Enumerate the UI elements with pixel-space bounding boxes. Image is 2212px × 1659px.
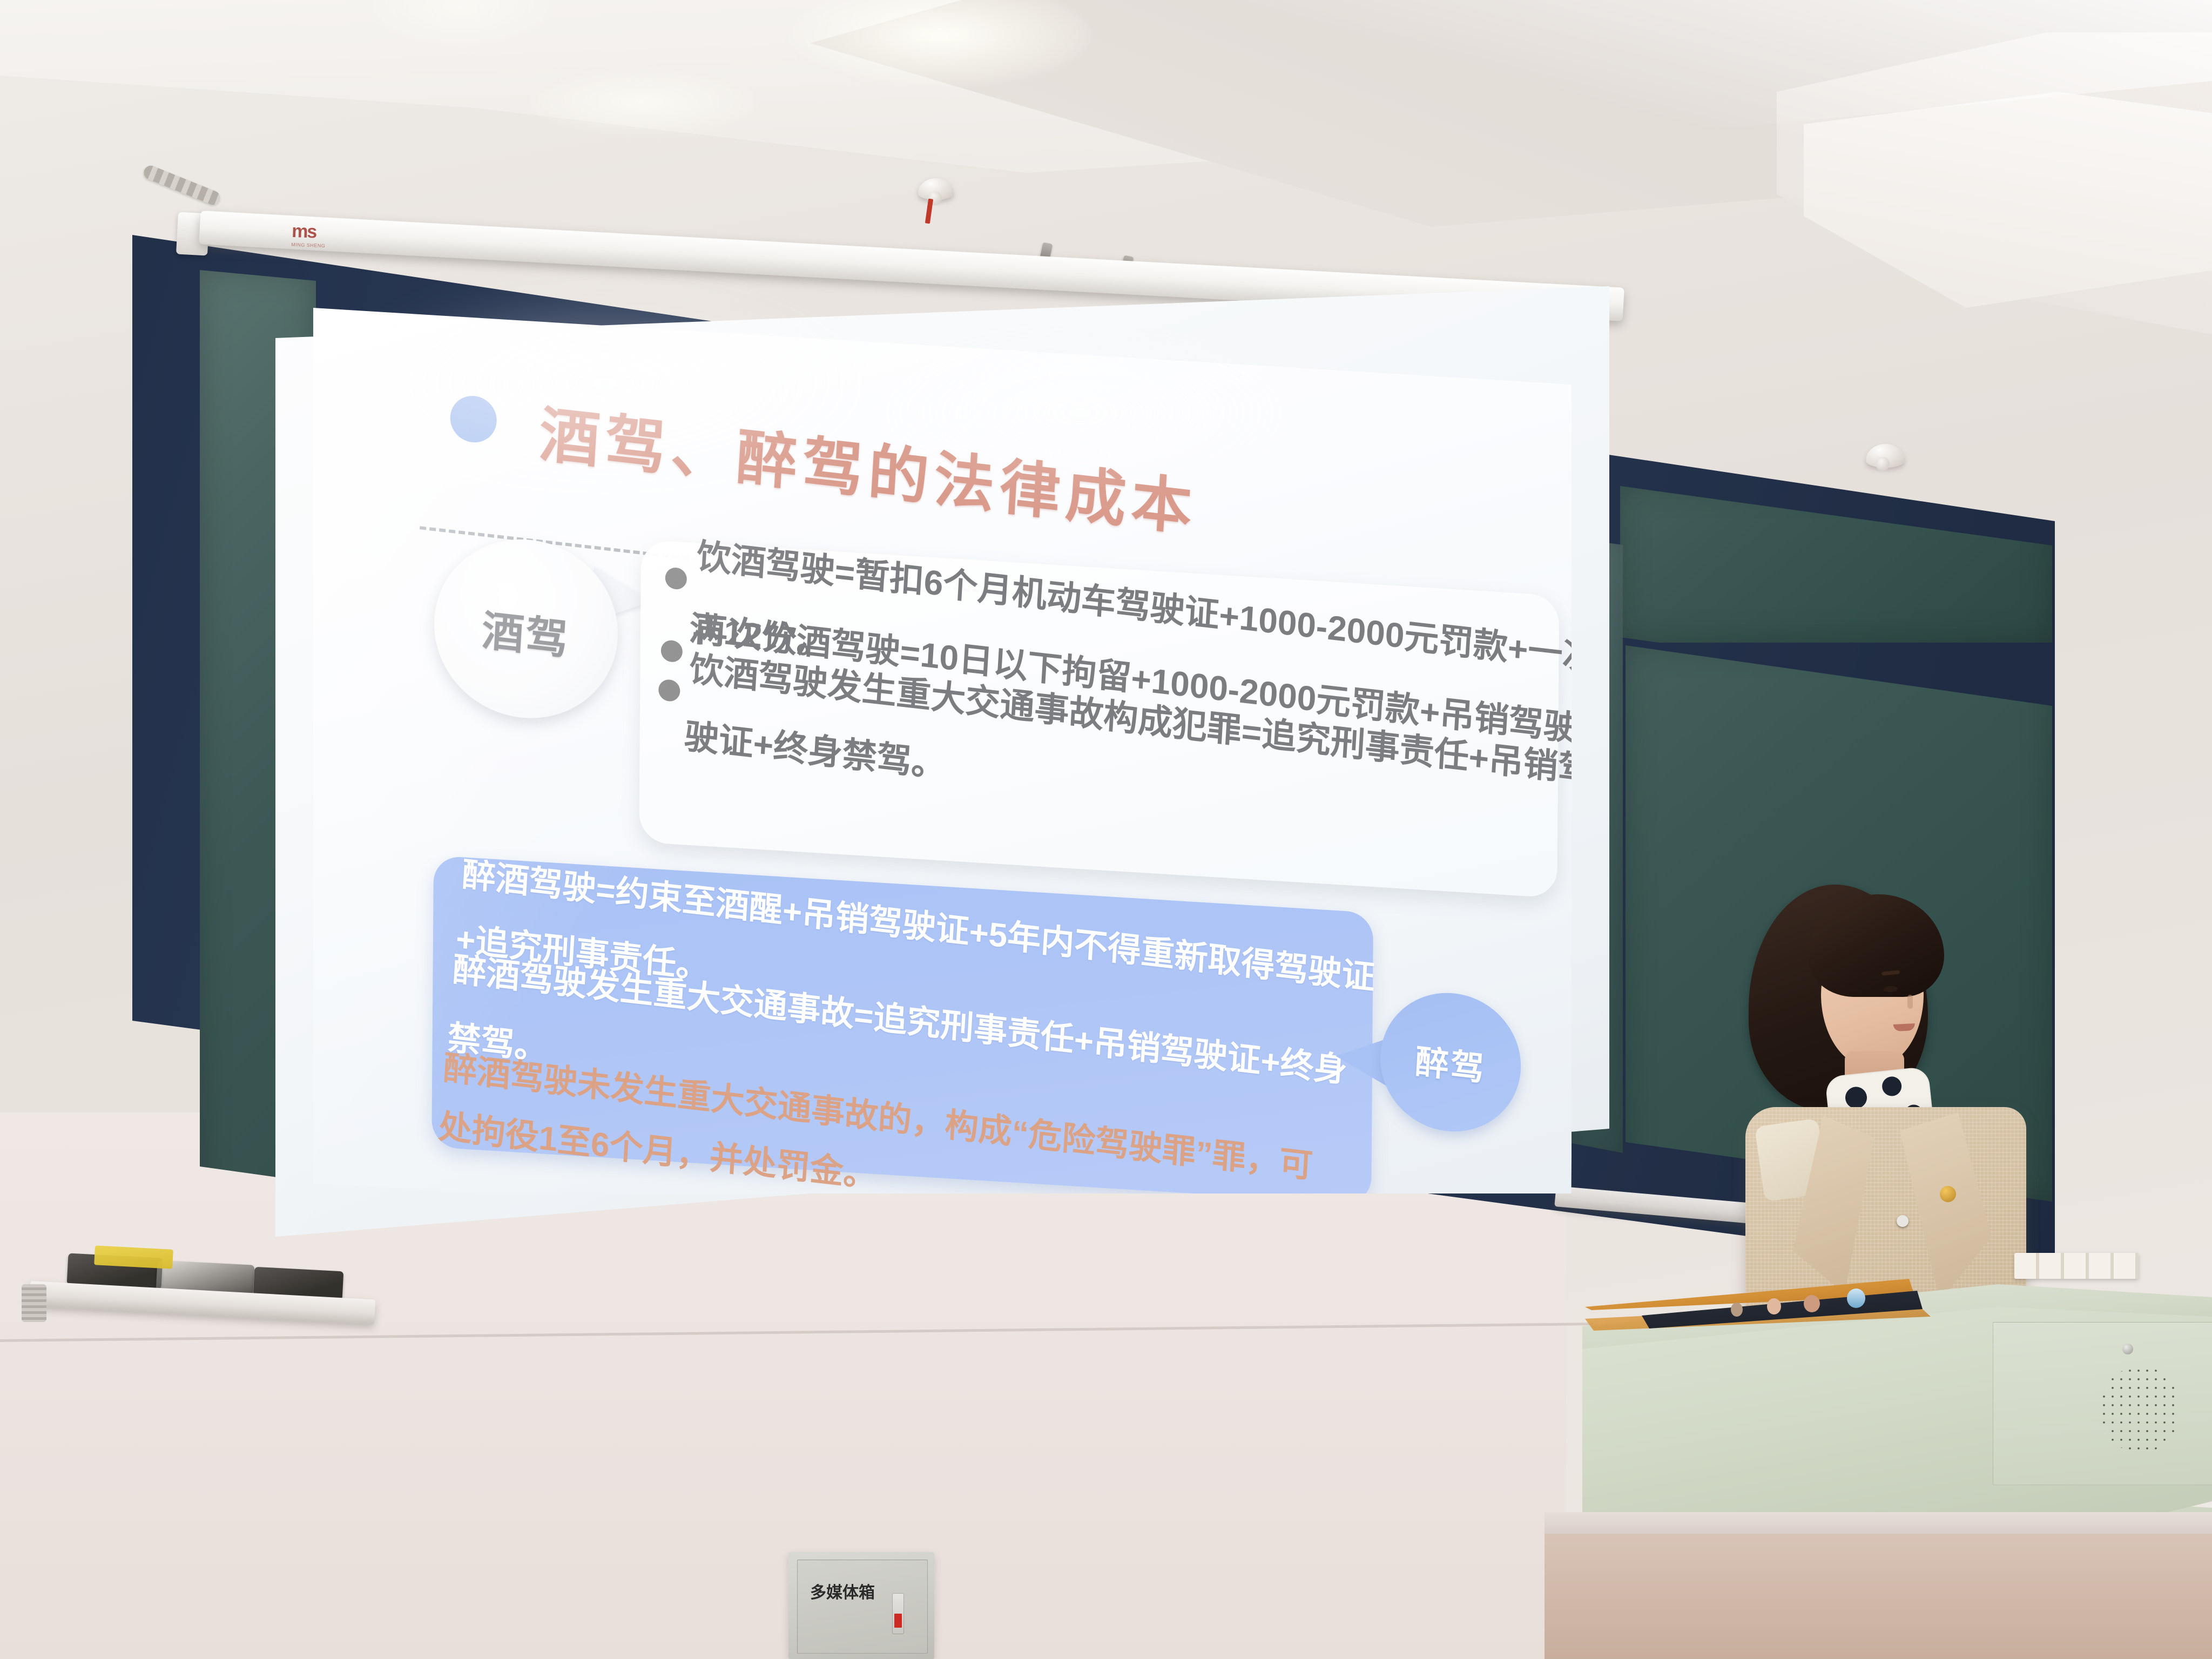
jacket-button-small (1897, 1215, 1908, 1227)
brand-subtext: MING SHENG (291, 242, 325, 248)
multimedia-wall-box[interactable]: 多媒体箱 (788, 1552, 934, 1659)
multimedia-box-label: 多媒体箱 (810, 1579, 875, 1603)
lectern-port-4 (1847, 1289, 1865, 1308)
lectern-speaker-grille-icon (2100, 1366, 2181, 1453)
floor (1545, 1534, 2212, 1659)
chalk-tray-endcap (22, 1284, 46, 1322)
lectern-lock-icon (2122, 1344, 2133, 1354)
title-bullet-dot (450, 395, 497, 444)
brand-text: ms (292, 221, 316, 242)
desk-papers (2014, 1253, 2139, 1279)
multimedia-box-door[interactable] (797, 1560, 928, 1654)
scarf-dot (1844, 1086, 1868, 1110)
lapel-pin-icon (1940, 1186, 1956, 1202)
multimedia-box-latch[interactable] (892, 1593, 904, 1634)
jiujia-label: 酒驾 (480, 597, 571, 667)
lectern-port-3 (1804, 1295, 1820, 1312)
lectern-port-1 (1731, 1303, 1743, 1317)
lectern-port-2 (1767, 1298, 1781, 1314)
yellow-supply (94, 1245, 173, 1269)
presenter-nose (1907, 995, 1913, 1009)
slide-canvas: 酒驾、醉驾的法律成本 酒驾 饮酒驾驶=暂扣6个月机动车驾驶证+1000-2000… (307, 308, 1577, 1260)
projector-brand-logo: ms MING SHENG (291, 221, 326, 248)
scarf-dot (1881, 1076, 1903, 1097)
zuijia-bubble: 醉驾 (1380, 989, 1521, 1136)
projected-slide: 酒驾、醉驾的法律成本 酒驾 饮酒驾驶=暂扣6个月机动车驾驶证+1000-2000… (313, 308, 1572, 1193)
classroom-scene: ms MING SHENG 酒驾、醉驾的法律成本 酒驾 饮酒驾驶=暂扣6个月机动… (0, 0, 2212, 1659)
slide-title: 酒驾、醉驾的法律成本 (537, 386, 1200, 547)
jiujia-bubble: 酒驾 (434, 534, 618, 724)
zuijia-label: 醉驾 (1414, 1034, 1487, 1090)
